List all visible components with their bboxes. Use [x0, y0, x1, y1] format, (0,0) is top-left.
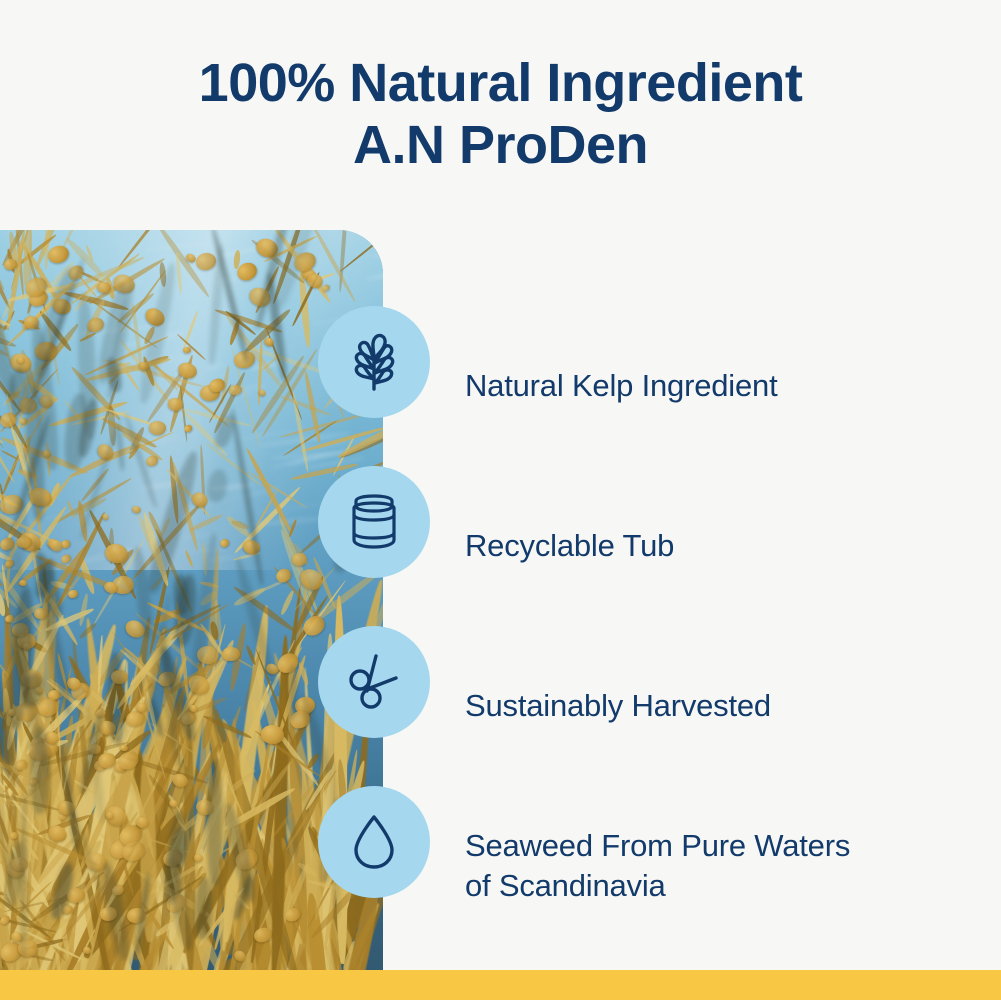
- product-feature-infographic: 100% Natural Ingredient A.N ProDen: [0, 0, 1001, 1000]
- feature-label: Natural Kelp Ingredient: [465, 366, 777, 406]
- feature-label: Sustainably Harvested: [465, 686, 771, 726]
- feature-row-recyclable-tub: Recyclable Tub: [318, 466, 978, 626]
- feature-row-seaweed-pure-waters: Seaweed From Pure Waters of Scandinavia: [318, 786, 978, 946]
- bottom-accent-bar: [0, 970, 1001, 1000]
- tub-icon: [318, 466, 430, 578]
- water-drop-icon: [318, 786, 430, 898]
- feature-row-natural-kelp-ingredient: Natural Kelp Ingredient: [318, 306, 978, 466]
- kelp-leaf-icon: [318, 306, 430, 418]
- page-title: 100% Natural Ingredient A.N ProDen: [0, 52, 1001, 176]
- feature-label: Recyclable Tub: [465, 526, 674, 566]
- scissors-icon: [318, 626, 430, 738]
- feature-list: Natural Kelp Ingredient Recyclable Tub: [318, 306, 978, 946]
- feature-label: Seaweed From Pure Waters of Scandinavia: [465, 826, 850, 906]
- feature-row-sustainably-harvested: Sustainably Harvested: [318, 626, 978, 786]
